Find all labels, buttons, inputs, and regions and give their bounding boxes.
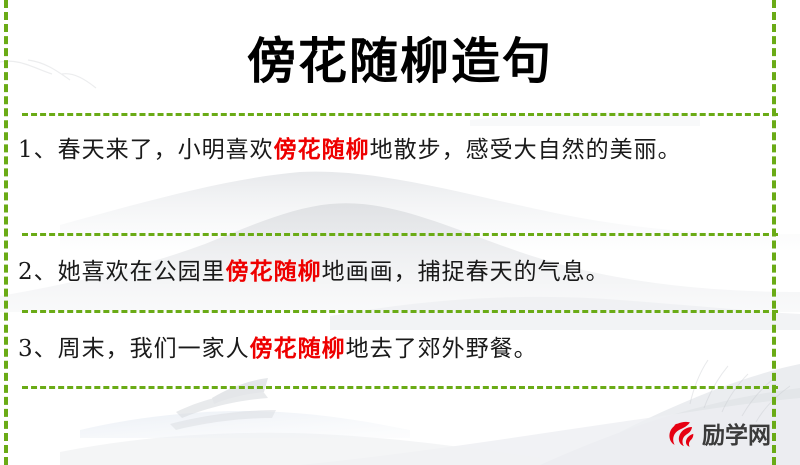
sentence-item-2: 2、她喜欢在公园里傍花随柳地画画，捕捉春天的气息。	[18, 250, 764, 294]
idiom-highlight-3: 傍花随柳	[250, 335, 346, 362]
sentence-index-2: 2、	[18, 259, 58, 285]
sentence-index-1: 1、	[18, 137, 58, 163]
idiom-highlight-2: 傍花随柳	[226, 258, 322, 285]
divider-after-sentence-1	[22, 233, 778, 236]
page-root: 傍花随柳造句 1、春天来了，小明喜欢傍花随柳地散步，感受大自然的美丽。 2、她喜…	[0, 0, 800, 465]
sentence-text-after-1: 地散步，感受大自然的美丽。	[370, 137, 682, 163]
divider-below-title	[22, 113, 778, 116]
idiom-highlight-1: 傍花随柳	[274, 136, 370, 163]
site-logo-text: 励学网	[702, 416, 771, 450]
page-title: 傍花随柳造句	[0, 22, 800, 93]
divider-after-sentence-2	[22, 310, 778, 313]
divider-after-sentence-3	[22, 386, 778, 389]
sentence-text-after-3: 地去了郊外野餐。	[346, 336, 538, 362]
sentence-item-1: 1、春天来了，小明喜欢傍花随柳地散步，感受大自然的美丽。	[18, 128, 764, 172]
sentence-text-before-1: 春天来了，小明喜欢	[58, 137, 274, 163]
red-swirl-flame-icon	[664, 416, 698, 450]
sentence-item-3: 3、周末，我们一家人傍花随柳地去了郊外野餐。	[18, 327, 764, 371]
site-logo[interactable]: 励学网	[664, 416, 771, 450]
sentence-index-3: 3、	[18, 336, 58, 362]
sentence-text-before-3: 周末，我们一家人	[58, 336, 250, 362]
sentence-text-before-2: 她喜欢在公园里	[58, 259, 226, 285]
sentence-text-after-2: 地画画，捕捉春天的气息。	[322, 259, 610, 285]
